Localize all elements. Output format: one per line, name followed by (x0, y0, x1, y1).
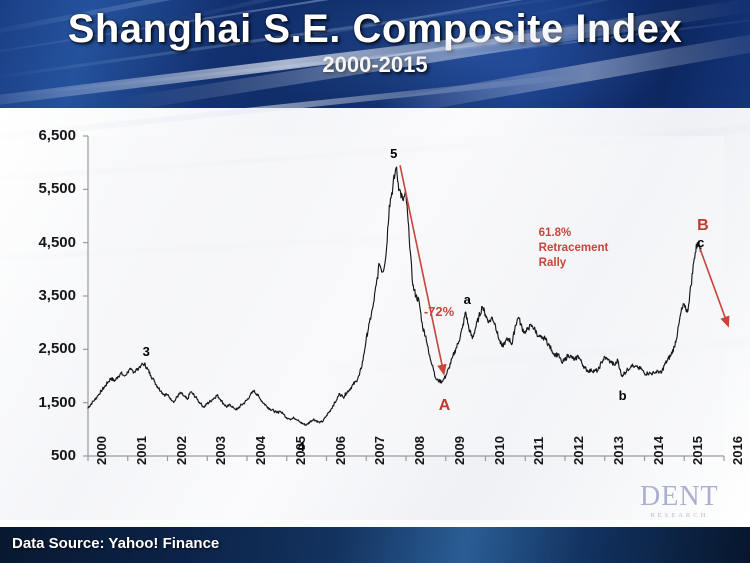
decline-percent-label: -72% (424, 304, 454, 319)
wave-label-B: B (697, 217, 709, 235)
x-axis-label: 2006 (333, 436, 348, 465)
x-axis-label: 2012 (571, 436, 586, 465)
x-axis-label: 2015 (690, 436, 705, 465)
retracement-line: 61.8% (539, 226, 609, 241)
retracement-line: Retracement (539, 241, 609, 256)
x-axis-label: 2016 (730, 436, 745, 465)
y-axis-label: 500 (6, 447, 76, 464)
y-axis-label: 1,500 (6, 394, 76, 411)
page-subtitle: 2000-2015 (0, 52, 750, 78)
retracement-rally-label: 61.8%RetracementRally (539, 226, 609, 272)
slide-header: Shanghai S.E. Composite Index 2000-2015 (0, 0, 750, 108)
y-axis-label: 4,500 (6, 234, 76, 251)
wave-label-a: a (464, 292, 471, 307)
y-axis-label: 3,500 (6, 287, 76, 304)
x-axis-label: 2009 (452, 436, 467, 465)
wave-label-4: 4 (298, 439, 305, 454)
watermark-sub: RESEARCH (640, 512, 719, 519)
retracement-line: Rally (539, 256, 609, 271)
footer-gap (0, 520, 750, 527)
wave-label-c: c (697, 235, 704, 250)
x-axis-label: 2011 (531, 437, 546, 465)
x-axis-label: 2002 (174, 436, 189, 465)
y-axis-label: 6,500 (6, 127, 76, 144)
x-axis-label: 2010 (492, 436, 507, 465)
y-axis-label: 5,500 (6, 180, 76, 197)
data-source-label: Data Source: Yahoo! Finance (12, 535, 219, 552)
y-axis-label: 2,500 (6, 340, 76, 357)
x-axis-label: 2003 (213, 436, 228, 465)
x-axis-label: 2013 (611, 436, 626, 465)
title-block: Shanghai S.E. Composite Index 2000-2015 (0, 8, 750, 78)
dent-research-watermark: DENT RESEARCH (640, 483, 719, 519)
watermark-brand: DENT (640, 483, 719, 511)
x-axis-label: 2014 (651, 436, 666, 465)
x-axis-label: 2008 (412, 436, 427, 465)
chart-area: 5001,5002,5003,5004,5005,5006,500 200020… (0, 108, 750, 520)
plot-background (88, 136, 724, 456)
x-axis-label: 2004 (253, 436, 268, 465)
x-axis-label: 2000 (94, 436, 109, 465)
page-title: Shanghai S.E. Composite Index (0, 8, 750, 50)
x-axis-label: 2001 (134, 436, 149, 465)
slide-footer: Data Source: Yahoo! Finance (0, 527, 750, 563)
wave-label-A: A (439, 397, 451, 415)
wave-label-b: b (619, 388, 627, 403)
wave-label-3: 3 (143, 344, 150, 359)
x-axis-label: 2007 (372, 436, 387, 465)
wave-label-5: 5 (390, 146, 397, 161)
slide: Shanghai S.E. Composite Index 2000-2015 … (0, 0, 750, 563)
